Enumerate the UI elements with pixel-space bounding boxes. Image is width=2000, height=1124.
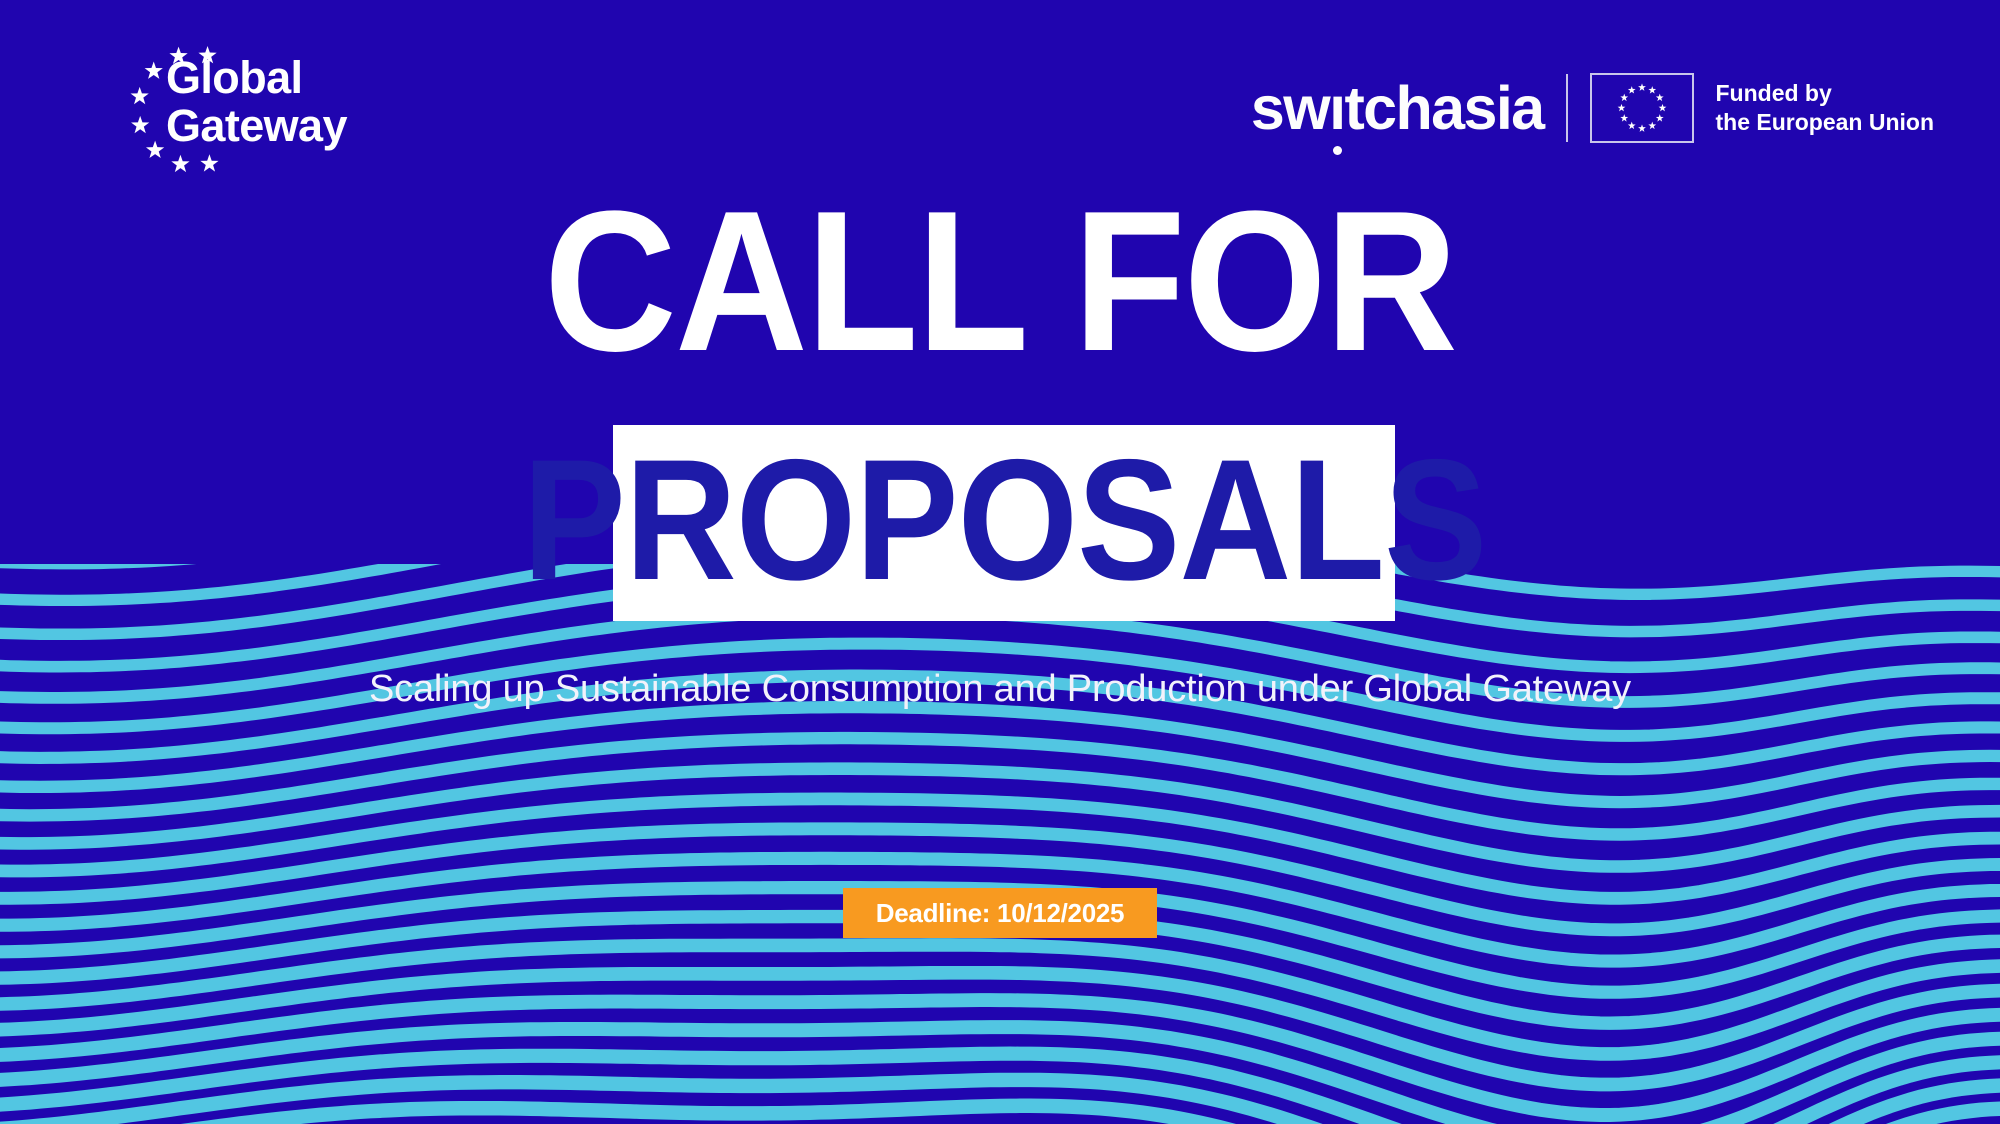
switchasia-wordmark: swıtchasia: [1251, 78, 1566, 138]
global-gateway-logo: Global Gateway: [118, 44, 418, 174]
eu-funding-line-2: the European Union: [1716, 108, 1935, 137]
deadline-badge: Deadline: 10/12/2025: [843, 888, 1157, 938]
partner-logo-bar: swıtchasia Funded by the European Union: [1251, 72, 1934, 144]
global-gateway-line-1: Global: [166, 54, 426, 102]
switchasia-dotless-i-glyph: ı: [1329, 74, 1344, 142]
page-title: CALL FOR: [80, 182, 1920, 382]
wave-background-decoration: [0, 564, 2000, 1124]
poster-canvas: Global Gateway swıtchasia Funded by the …: [0, 0, 2000, 1124]
global-gateway-wordmark: Global Gateway: [166, 54, 426, 150]
eu-funding-statement: Funded by the European Union: [1716, 79, 1935, 137]
deadline-label: Deadline: 10/12/2025: [876, 898, 1124, 929]
proposals-highlight-box: PROPOSALS: [613, 425, 1395, 621]
poster-subtitle: Scaling up Sustainable Consumption and P…: [0, 668, 2000, 711]
proposals-title: PROPOSALS: [522, 434, 1486, 606]
switchasia-wordmark-part-b: tchasia: [1344, 74, 1543, 142]
logo-divider: [1566, 74, 1568, 142]
switchasia-wordmark-part-a: sw: [1251, 74, 1329, 142]
eu-flag-icon: [1590, 73, 1694, 143]
global-gateway-line-2: Gateway: [166, 102, 426, 150]
eu-funding-line-1: Funded by: [1716, 79, 1935, 108]
